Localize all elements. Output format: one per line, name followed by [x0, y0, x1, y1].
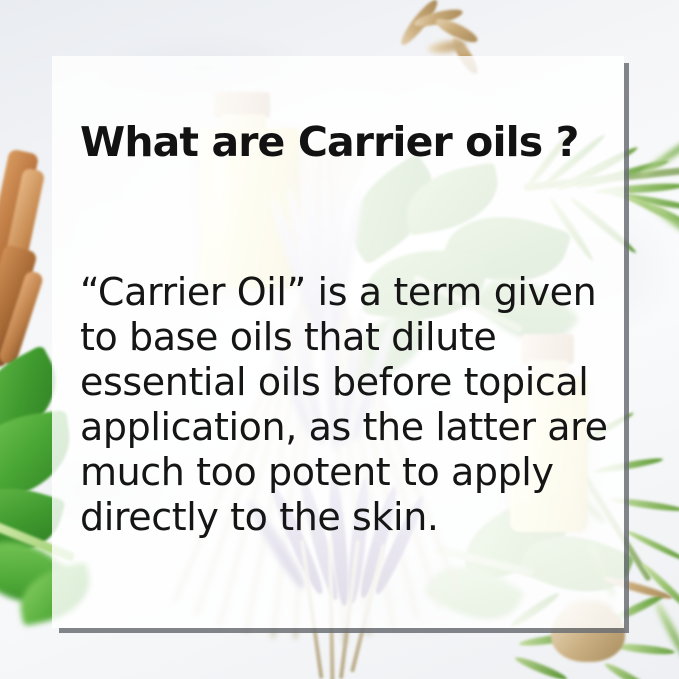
page-title: What are Carrier oils ?	[80, 118, 600, 166]
infographic-canvas: What are Carrier oils ? “Carrier Oil” is…	[0, 0, 679, 679]
body-line: directly to the skin.	[80, 495, 610, 540]
content-card: What are Carrier oils ? “Carrier Oil” is…	[52, 56, 624, 628]
body-line: essential oils before topical	[80, 360, 610, 405]
body-line: to base oils that dilute	[80, 315, 610, 360]
body-line: application, as the latter are	[80, 405, 610, 450]
card-inner: What are Carrier oils ? “Carrier Oil” is…	[52, 56, 624, 628]
body-line: “Carrier Oil” is a term given	[80, 270, 610, 315]
body-line: much too potent to apply	[80, 450, 610, 495]
body-paragraph: “Carrier Oil” is a term given to base oi…	[80, 270, 610, 540]
